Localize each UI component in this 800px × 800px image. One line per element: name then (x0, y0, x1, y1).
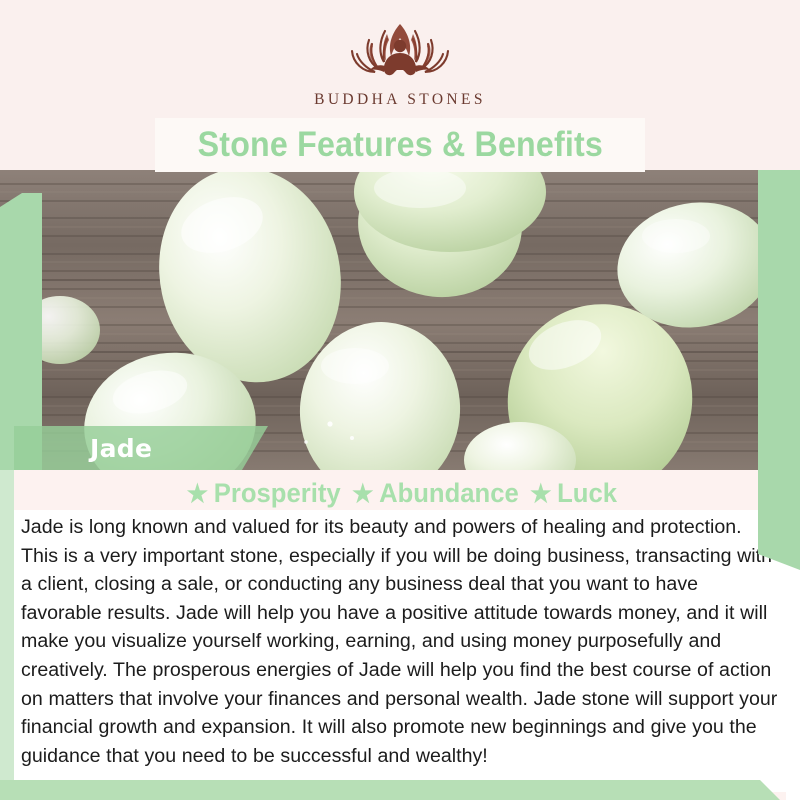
stone-name-band: Jade (14, 426, 268, 470)
title-banner: Stone Features & Benefits (155, 118, 645, 172)
logo: BUDDHA STONES (314, 18, 486, 109)
description-text: Jade is long known and valued for its be… (14, 510, 786, 770)
decor-bar-bottom (0, 780, 800, 800)
decor-strip-left (0, 470, 14, 780)
keyword-prosperity: Prosperity (214, 478, 341, 508)
content-inner: ★Prosperity★Abundance★Luck Jade is long … (14, 470, 786, 800)
brand-name: BUDDHA STONES (314, 91, 486, 109)
star-icon: ★ (187, 480, 208, 508)
keyword-list: ★Prosperity★Abundance★Luck (33, 478, 766, 509)
stone-photo-illustration (0, 170, 800, 470)
decor-bar-right (758, 160, 800, 570)
keyword-luck: Luck (557, 478, 617, 508)
keyword-abundance: Abundance (379, 478, 519, 508)
star-icon: ★ (530, 480, 551, 508)
lotus-meditation-icon (325, 18, 475, 84)
content-area: ★Prosperity★Abundance★Luck Jade is long … (0, 470, 800, 800)
stone-name-label: Jade (90, 434, 152, 463)
infographic-page: BUDDHA STONES Stone Features & Benefits … (0, 0, 800, 800)
description-block: Jade is long known and valued for its be… (14, 510, 786, 792)
star-icon: ★ (352, 480, 373, 508)
page-title: Stone Features & Benefits (197, 125, 602, 165)
stone-photo (0, 170, 800, 470)
